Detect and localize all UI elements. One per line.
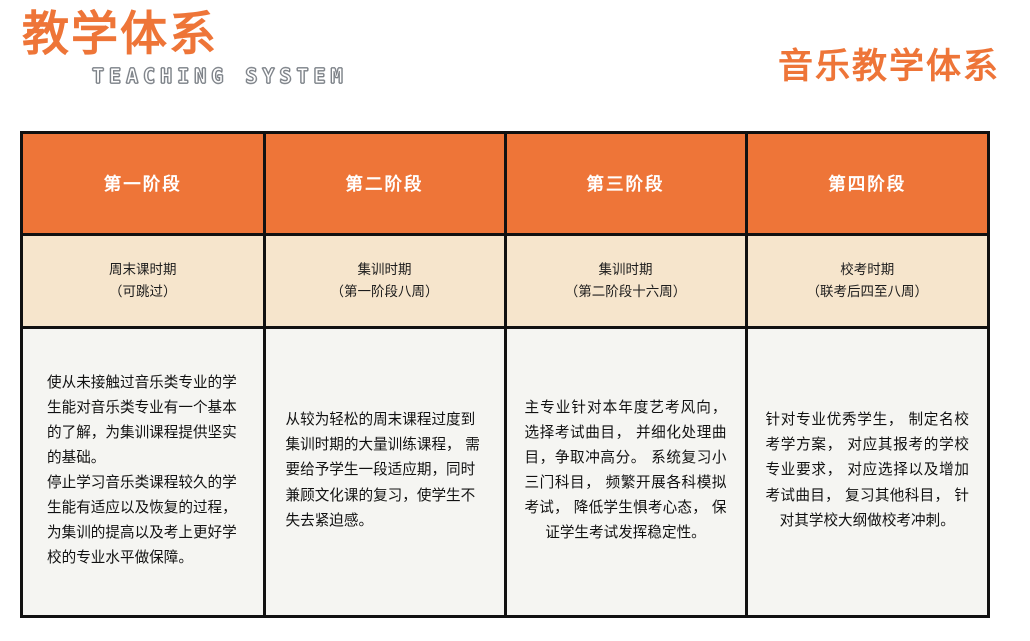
period-line-4a: 校考时期 (748, 259, 988, 281)
period-line-2b: （第一阶段八周） (266, 281, 504, 303)
table-header-row: 第一阶段 第二阶段 第三阶段 第四阶段 (23, 134, 987, 235)
period-line-1a: 周末课时期 (23, 259, 263, 281)
description-cell-2: 从较为轻松的周末课程过度到 集训时期的大量训练课程， 需要给予学生一段适应期，同… (264, 328, 505, 616)
section-title-right: 音乐教学体系 (778, 50, 1000, 85)
period-line-1b: （可跳过） (23, 281, 263, 303)
teaching-system-table: 第一阶段 第二阶段 第三阶段 第四阶段 周末课时期 （可跳过） 集训时期 （第一… (20, 131, 990, 618)
description-1-paragraph-2: 停止学习音乐类课程较久的学生能有适应以及恢复的过程，为集训的提高以及考上更好学校… (47, 470, 241, 570)
table-period-row: 周末课时期 （可跳过） 集训时期 （第一阶段八周） 集训时期 （第二阶段十六周）… (23, 235, 987, 328)
period-line-3a: 集训时期 (507, 259, 745, 281)
stage-header-3: 第三阶段 (505, 134, 746, 235)
description-4-paragraph-1: 针对专业优秀学生， 制定名校考学方案， 对应其报考的学校专业要求， 对应选择以及… (766, 407, 970, 532)
page-title: 教学体系 (20, 8, 440, 62)
page-header: 教学体系 TEACHING SYSTEM 音乐教学体系 (0, 0, 1030, 120)
description-cell-1: 使从未接触过音乐类专业的学生能对音乐类专业有一个基本的了解，为集训课程提供坚实的… (23, 328, 264, 616)
stage-header-4: 第四阶段 (746, 134, 987, 235)
period-line-2a: 集训时期 (266, 259, 504, 281)
page-subtitle: TEACHING SYSTEM (20, 64, 440, 88)
period-line-4b: （联考后四至八周） (748, 281, 988, 303)
period-cell-3: 集训时期 （第二阶段十六周） (505, 235, 746, 328)
description-cell-4: 针对专业优秀学生， 制定名校考学方案， 对应其报考的学校专业要求， 对应选择以及… (746, 328, 987, 616)
stage-header-2: 第二阶段 (264, 134, 505, 235)
table-description-row: 使从未接触过音乐类专业的学生能对音乐类专业有一个基本的了解，为集训课程提供坚实的… (23, 328, 987, 616)
description-cell-3: 主专业针对本年度艺考风向，选择考试曲目， 并细化处理曲目，争取冲高分。 系统复习… (505, 328, 746, 616)
description-2-paragraph-1: 从较为轻松的周末课程过度到 集训时期的大量训练课程， 需要给予学生一段适应期，同… (286, 407, 484, 532)
description-3-paragraph-1: 主专业针对本年度艺考风向，选择考试曲目， 并细化处理曲目，争取冲高分。 系统复习… (525, 395, 727, 546)
period-cell-2: 集训时期 （第一阶段八周） (264, 235, 505, 328)
period-cell-4: 校考时期 （联考后四至八周） (746, 235, 987, 328)
title-block: 教学体系 TEACHING SYSTEM (20, 8, 440, 88)
stage-header-1: 第一阶段 (23, 134, 264, 235)
period-line-3b: （第二阶段十六周） (507, 281, 745, 303)
period-cell-1: 周末课时期 （可跳过） (23, 235, 264, 328)
description-1-paragraph-1: 使从未接触过音乐类专业的学生能对音乐类专业有一个基本的了解，为集训课程提供坚实的… (47, 370, 241, 470)
